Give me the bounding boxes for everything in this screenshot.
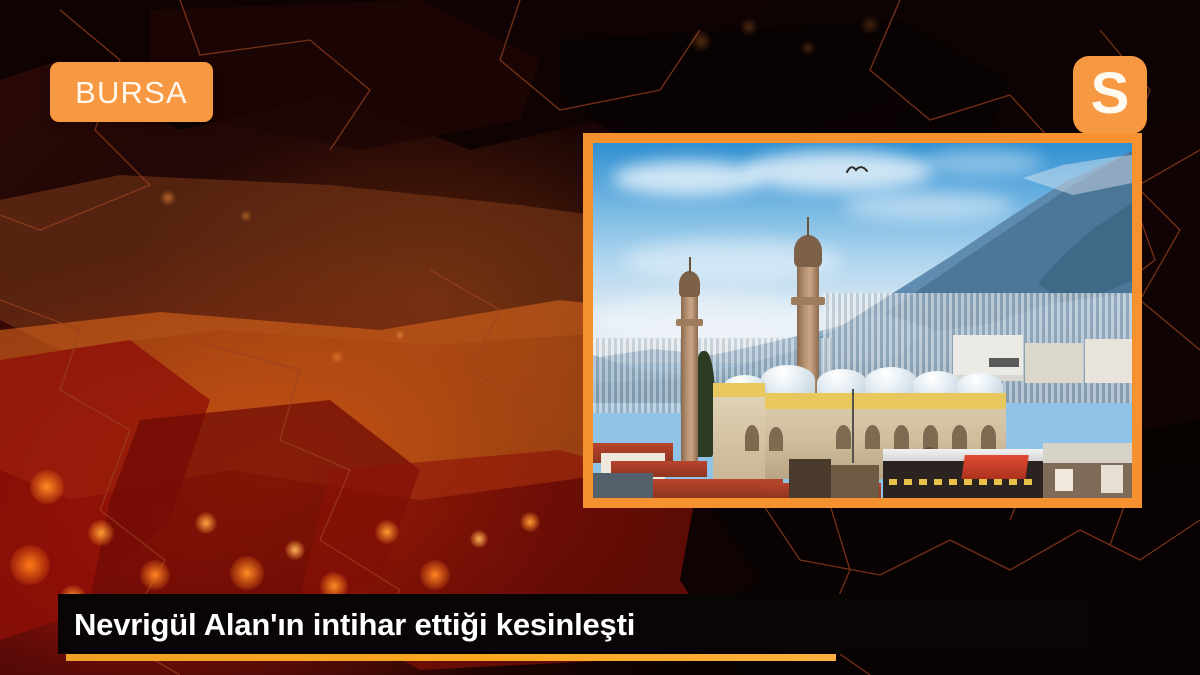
mosque-arch xyxy=(865,425,880,449)
headline-bar: Nevrigül Alan'ın intihar ettiği kesinleş… xyxy=(58,594,1088,654)
brand-logo[interactable]: S xyxy=(1073,56,1147,134)
mosque-arch xyxy=(894,425,909,449)
cloud-shape xyxy=(843,191,1013,221)
cloud-shape xyxy=(613,161,763,195)
mosque-arch xyxy=(745,425,759,451)
mosque-arch xyxy=(981,425,996,449)
minaret-left-cap xyxy=(679,271,700,297)
mosque-arch xyxy=(923,425,938,449)
minaret-left-balcony xyxy=(676,319,703,326)
red-awning xyxy=(961,455,1029,481)
mosque-dome xyxy=(761,365,815,395)
rooftop xyxy=(593,473,653,498)
brand-logo-letter: S xyxy=(1091,65,1130,123)
rooftop-box xyxy=(789,459,831,498)
minaret-left-spire xyxy=(689,257,691,273)
city-badge-label: BURSA xyxy=(75,77,188,108)
minaret-right-spire xyxy=(807,217,809,237)
building xyxy=(1025,343,1083,383)
minaret-right-balcony xyxy=(791,297,825,305)
building xyxy=(1085,339,1132,383)
news-photo-frame xyxy=(583,133,1142,508)
antenna xyxy=(852,389,854,463)
mosque-arch xyxy=(952,425,967,449)
mosque-arch xyxy=(769,427,783,451)
city-badge[interactable]: BURSA xyxy=(50,62,213,122)
news-card: BURSA xyxy=(0,0,1200,675)
mosque-arch xyxy=(836,425,851,449)
cloud-shape xyxy=(743,151,933,191)
building-window xyxy=(1101,465,1123,493)
mosque-dome xyxy=(865,367,917,396)
building-window xyxy=(1055,469,1073,491)
bird-icon xyxy=(846,165,868,178)
cloud-shape xyxy=(593,293,823,343)
news-photo xyxy=(593,143,1132,498)
minaret-right-cap xyxy=(794,235,822,267)
cloud-shape xyxy=(923,149,1043,175)
mosque-yellow-band xyxy=(713,383,765,397)
market-lights xyxy=(889,479,1037,485)
signboard xyxy=(989,358,1019,367)
accent-underline xyxy=(66,654,836,661)
building xyxy=(1043,443,1132,463)
rooftop-box xyxy=(831,465,879,498)
headline-text: Nevrigül Alan'ın intihar ettiği kesinleş… xyxy=(58,609,635,640)
